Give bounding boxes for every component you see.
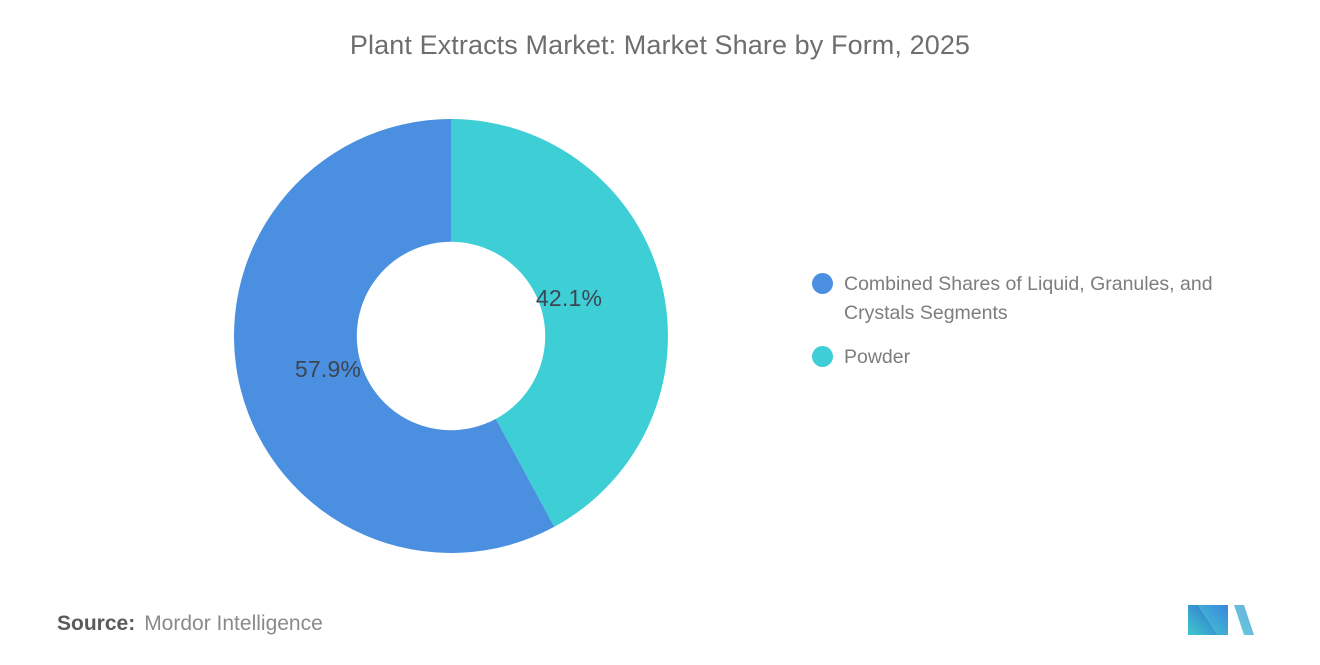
legend-swatch-icon-combined-shares [812,273,833,294]
mordor-intelligence-logo-icon [1186,597,1256,641]
legend-item-powder[interactable]: Powder [812,343,1282,372]
slice-label-powder: 42.1% [509,285,629,312]
donut-hole [357,242,545,430]
slice-label-combined-shares: 57.9% [268,356,388,383]
page-title: Plant Extracts Market: Market Share by F… [0,30,1320,61]
legend-label-powder: Powder [844,343,910,372]
source-value: Mordor Intelligence [144,612,323,636]
logo-svg [1186,597,1256,641]
legend: Combined Shares of Liquid, Granules, and… [812,270,1282,387]
source-footer: Source: Mordor Intelligence [57,612,323,636]
legend-label-combined-shares: Combined Shares of Liquid, Granules, and… [844,270,1272,328]
chart-canvas: Plant Extracts Market: Market Share by F… [0,0,1320,665]
donut-svg [234,119,668,553]
source-label: Source: [57,612,135,636]
legend-item-combined-shares[interactable]: Combined Shares of Liquid, Granules, and… [812,270,1282,328]
legend-swatch-icon-powder [812,346,833,367]
donut-chart: 57.9% 42.1% [234,119,668,553]
